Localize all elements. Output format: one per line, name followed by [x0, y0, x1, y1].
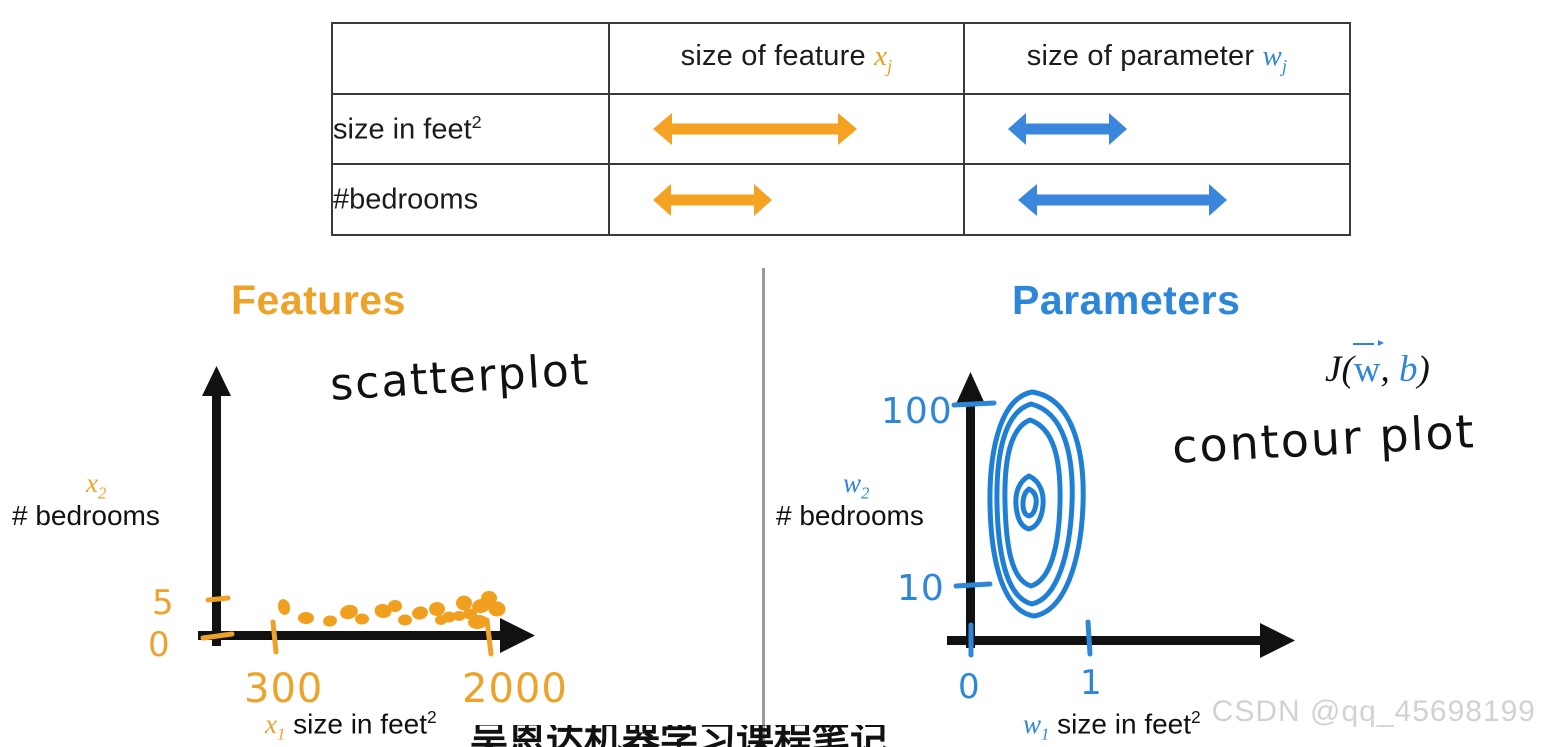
- table-row: size in feet2: [332, 94, 1350, 165]
- annotation-scatterplot: scatterplot: [329, 344, 592, 411]
- double-arrow-icon: [610, 109, 963, 149]
- page-title-features: Features: [231, 277, 406, 324]
- table-header-feature-text: size of feature: [681, 40, 874, 72]
- table-header-feature-cell: size of feature xj: [609, 23, 964, 94]
- feature-variable-subscript: j: [887, 56, 892, 76]
- left-x-tick-2000: 2000: [462, 666, 568, 712]
- table-header-blank-cell: [332, 23, 609, 94]
- slide-canvas: size of feature xj size of parameter wj …: [0, 0, 1548, 747]
- double-arrow-icon: [610, 180, 963, 220]
- right-x-axis-superscript: 2: [1191, 707, 1201, 727]
- row-label-text: #bedrooms: [333, 184, 478, 216]
- row-label-bedrooms: #bedrooms: [332, 164, 609, 235]
- cost-function-paren-close: ): [1418, 349, 1430, 390]
- right-chart-axes: [947, 372, 1295, 658]
- annotation-contour-plot: contour plot: [1171, 404, 1477, 474]
- double-arrow-icon: [965, 109, 1349, 149]
- right-y-var-symbol: w: [843, 468, 861, 498]
- left-y-tick-5: 5: [152, 583, 174, 623]
- cost-function-b: b: [1399, 349, 1418, 390]
- left-y-axis-label: # bedrooms: [12, 500, 160, 532]
- row-label-size-in-feet: size in feet2: [332, 94, 609, 165]
- panel-divider: [762, 268, 765, 740]
- contour-rings: [990, 392, 1083, 616]
- cell-feature-arrow-bedrooms: [609, 164, 964, 235]
- watermark: CSDN @qq_45698199: [1212, 695, 1536, 729]
- right-y-axis-label: # bedrooms: [776, 500, 924, 532]
- clipped-caption-text: 吴恩达机器学习课程笔记: [470, 725, 888, 747]
- table-header-parameter-cell: size of parameter wj: [964, 23, 1350, 94]
- left-y-axis-variable: x2: [86, 468, 106, 503]
- left-y-var-symbol: x: [86, 468, 98, 498]
- cell-parameter-arrow-size: [964, 94, 1350, 165]
- cost-function-label: J(w, b): [1325, 348, 1430, 391]
- cost-function-paren-open: (: [1341, 349, 1353, 390]
- feature-parameter-comparison-table: size of feature xj size of parameter wj …: [331, 22, 1351, 236]
- left-x-axis-superscript: 2: [427, 707, 437, 727]
- right-x-tick-0: 0: [958, 667, 980, 707]
- right-chart-ticks: [954, 403, 1090, 655]
- row-label-text: size in feet: [333, 113, 472, 145]
- cost-function-J: J: [1325, 349, 1341, 390]
- cell-feature-arrow-size: [609, 94, 964, 165]
- cell-parameter-arrow-bedrooms: [964, 164, 1350, 235]
- left-x-tick-300: 300: [244, 666, 323, 712]
- right-y-tick-10: 10: [897, 568, 945, 609]
- right-y-axis-variable: w2: [843, 468, 869, 503]
- right-x-tick-1: 1: [1080, 663, 1102, 703]
- left-chart-axes: [198, 366, 535, 653]
- table-header-row: size of feature xj size of parameter wj: [332, 23, 1350, 94]
- parameter-variable-subscript: j: [1282, 56, 1287, 76]
- double-arrow-icon: [965, 180, 1349, 220]
- table-header-parameter-text: size of parameter: [1027, 40, 1263, 72]
- page-title-parameters: Parameters: [1012, 277, 1240, 324]
- cost-function-w-vector: w: [1354, 348, 1381, 391]
- parameter-variable-symbol: w: [1262, 40, 1282, 72]
- right-y-tick-100: 100: [881, 391, 953, 432]
- left-chart-ticks: [203, 598, 491, 654]
- cost-function-comma: ,: [1381, 349, 1400, 390]
- left-y-tick-0: 0: [148, 625, 170, 665]
- table-row: #bedrooms: [332, 164, 1350, 235]
- feature-variable-symbol: x: [874, 40, 887, 72]
- scatter-points: [276, 591, 505, 630]
- row-label-superscript: 2: [472, 112, 482, 132]
